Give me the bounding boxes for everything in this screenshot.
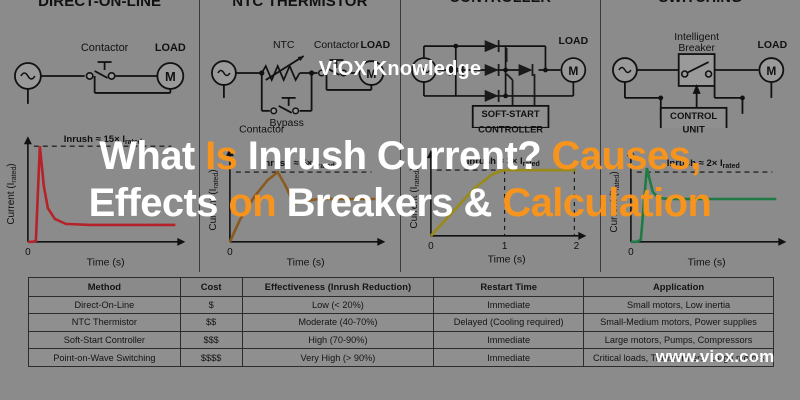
label-control-unit-line2: UNIT xyxy=(682,124,704,135)
label-controller-line1: SOFT-START xyxy=(481,109,539,119)
annotation-inrush: Inrush ≈ 15× Irated xyxy=(64,134,142,146)
cell-cost: $$$$ xyxy=(180,349,242,367)
annotation-inrush: Inrush ≈ 3× Irated xyxy=(466,156,539,168)
cell-method: Soft-Start Controller xyxy=(29,331,181,349)
panel-title-soft-start-controller: CONTROLLER xyxy=(401,0,600,6)
chart-ntc-thermistor: Contactor 0 Time (s) Current (Irated) In… xyxy=(200,124,399,270)
cell-cost: $$ xyxy=(180,314,242,332)
cell-restart-time: Immediate xyxy=(434,296,584,314)
panel-title-ntc-thermistor: NTC THERMISTOR xyxy=(200,0,399,9)
cell-cost: $$$ xyxy=(180,331,242,349)
xtick-0: 0 xyxy=(628,247,634,258)
label-bypass-contactor-2: Contactor xyxy=(239,124,285,135)
cell-method: NTC Thermistor xyxy=(29,314,181,332)
panel-title-point-on-wave-switching: SWITCHING xyxy=(601,0,800,6)
label-contactor: Contactor xyxy=(81,42,129,54)
cell-method: Point-on-Wave Switching xyxy=(29,349,181,367)
panel-soft-start-controller: CONTROLLER xyxy=(401,0,601,272)
xtick-0: 0 xyxy=(227,247,233,258)
cell-effectiveness: Moderate (40-70%) xyxy=(242,314,434,332)
chart-soft-start-controller: CONTROLLER 0 1 2 Time (s) Current (Irate… xyxy=(401,124,600,270)
label-controller-line2: CONTROLLER xyxy=(478,124,543,134)
panel-title-direct-on-line: DIRECT-ON-LINE xyxy=(0,0,199,9)
label-breaker-line2: Breaker xyxy=(678,43,715,54)
table-row: NTC Thermistor $$ Moderate (40-70%) Dela… xyxy=(29,314,774,332)
annotation-inrush: Inrush ≈ 5× Irated xyxy=(262,158,335,170)
label-load: LOAD xyxy=(155,42,186,54)
label-breaker-line1: Intelligent xyxy=(674,32,719,43)
chart-point-on-wave-switching: UNIT 0 Time (s) Current (Irated) Inrush … xyxy=(601,124,800,270)
label-load: LOAD xyxy=(361,40,391,51)
yaxis-label: Current (Irated) xyxy=(609,171,621,232)
xaxis-label: Time (s) xyxy=(687,258,725,269)
col-header-cost: Cost xyxy=(180,278,242,297)
col-header-restart-time: Restart Time xyxy=(434,278,584,297)
label-load: LOAD xyxy=(558,36,588,47)
series-inrush-curve xyxy=(631,168,776,242)
label-contactor: Contactor xyxy=(314,40,360,51)
xtick-0: 0 xyxy=(428,241,434,252)
col-header-effectiveness: Effectiveness (Inrush Reduction) xyxy=(242,278,434,297)
col-header-method: Method xyxy=(29,278,181,297)
series-inrush-curve xyxy=(230,172,375,242)
series-inrush-curve xyxy=(430,170,575,236)
xtick-2: 2 xyxy=(573,241,579,252)
brand-watermark: ViOX Knowledge xyxy=(0,58,800,81)
cell-cost: $ xyxy=(180,296,242,314)
label-control-unit-line1: CONTROL xyxy=(670,111,717,122)
chart-direct-on-line: 0 Time (s) Current (Irated) Inrush ≈ 15×… xyxy=(0,124,199,270)
panel-direct-on-line: DIRECT-ON-LINE C xyxy=(0,0,200,272)
infographic-canvas: DIRECT-ON-LINE C xyxy=(0,0,800,400)
xaxis-label: Time (s) xyxy=(87,258,125,269)
label-load: LOAD xyxy=(757,40,787,51)
label-ntc: NTC xyxy=(273,40,295,51)
cell-method: Direct-On-Line xyxy=(29,296,181,314)
xtick-1: 1 xyxy=(501,241,507,252)
yaxis-label: Current (Irated) xyxy=(408,167,420,228)
xtick-0: 0 xyxy=(25,247,31,258)
yaxis-label: Current (Irated) xyxy=(208,169,220,230)
cell-application: Small motors, Low inertia xyxy=(584,296,774,314)
cell-effectiveness: Low (< 20%) xyxy=(242,296,434,314)
panel-point-on-wave-switching: SWITCHING xyxy=(601,0,800,272)
method-panels: DIRECT-ON-LINE C xyxy=(0,0,800,272)
yaxis-label: Current (Irated) xyxy=(6,163,18,224)
cell-application: Small-Medium motors, Power supplies xyxy=(584,314,774,332)
xaxis-label: Time (s) xyxy=(487,255,525,266)
series-inrush-curve xyxy=(28,146,175,242)
xaxis-label: Time (s) xyxy=(287,258,325,269)
cell-restart-time: Delayed (Cooling required) xyxy=(434,314,584,332)
table-header-row: Method Cost Effectiveness (Inrush Reduct… xyxy=(29,278,774,297)
col-header-application: Application xyxy=(584,278,774,297)
url-watermark: www.viox.com xyxy=(315,347,800,367)
table-row: Direct-On-Line $ Low (< 20%) Immediate S… xyxy=(29,296,774,314)
annotation-inrush: Inrush ≈ 2× Irated xyxy=(667,158,740,170)
panel-ntc-thermistor: NTC THERMISTOR xyxy=(200,0,400,272)
